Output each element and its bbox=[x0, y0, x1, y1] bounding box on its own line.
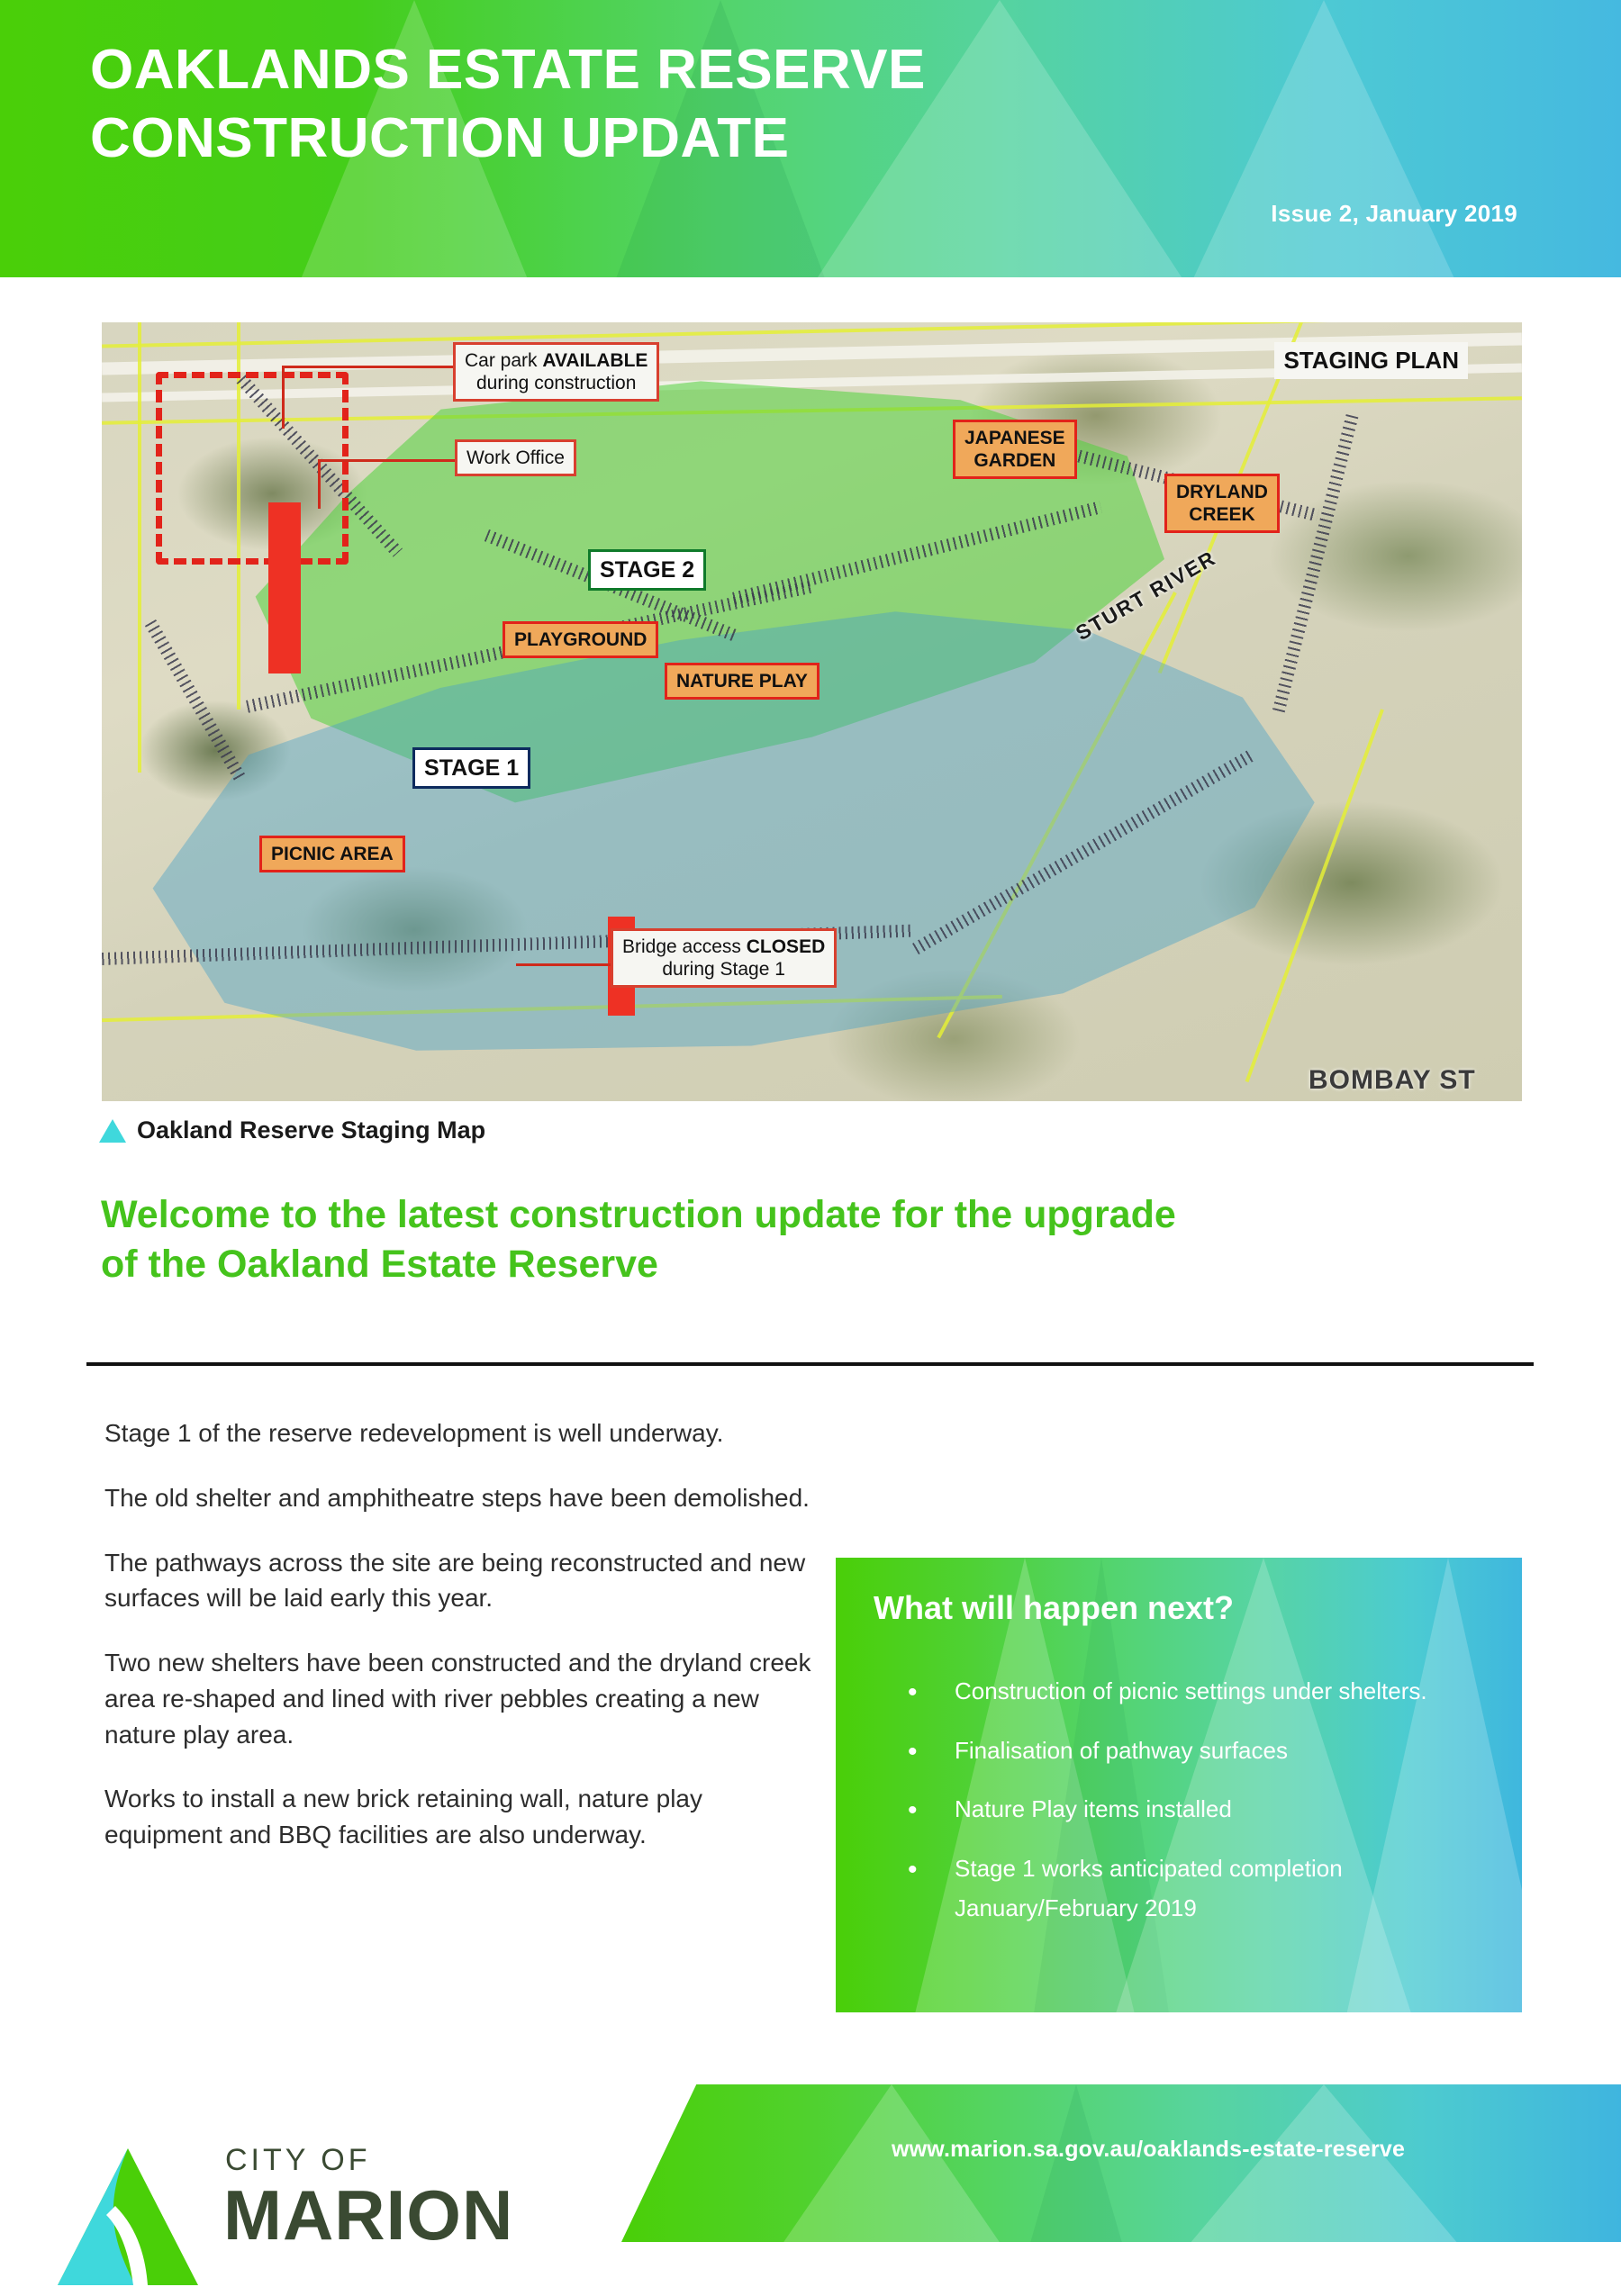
map-note-line: Car park bbox=[465, 350, 542, 371]
map-label-line: CREEK bbox=[1189, 504, 1255, 525]
header-triangle-decoration bbox=[1189, 0, 1459, 277]
footer-triangle-decoration-dark bbox=[1027, 2084, 1126, 2242]
map-label-line: JAPANESE bbox=[964, 428, 1065, 448]
map-caption-text: Oakland Reserve Staging Map bbox=[137, 1116, 485, 1144]
map-label-nature-play: NATURE PLAY bbox=[665, 663, 820, 700]
map-note-carpark-available: Car park AVAILABLE during construction bbox=[453, 342, 659, 402]
map-caption: Oakland Reserve Staging Map bbox=[99, 1116, 485, 1144]
map-label-line: DRYLAND bbox=[1176, 482, 1268, 502]
map-boundary-line bbox=[138, 322, 141, 773]
horizontal-divider bbox=[86, 1362, 1534, 1366]
panel-list-item: Stage 1 works anticipated completion bbox=[890, 1852, 1486, 1886]
body-paragraph: The old shelter and amphitheatre steps h… bbox=[104, 1480, 816, 1516]
panel-list-item: Nature Play items installed bbox=[890, 1793, 1486, 1827]
map-label-staging-plan: STAGING PLAN bbox=[1274, 342, 1468, 379]
logo-triangle-svg bbox=[56, 2143, 200, 2291]
map-note-work-office: Work Office bbox=[455, 439, 576, 476]
map-note-line: Bridge access bbox=[622, 936, 747, 957]
welcome-heading-line-2: of the Oakland Estate Reserve bbox=[101, 1240, 1533, 1289]
map-note-bridge-closed: Bridge access CLOSED during Stage 1 bbox=[611, 928, 837, 988]
welcome-heading: Welcome to the latest construction updat… bbox=[101, 1190, 1533, 1289]
map-label-playground: PLAYGROUND bbox=[503, 621, 658, 658]
map-label-stage-2: STAGE 2 bbox=[588, 549, 706, 591]
page-title: OAKLANDS ESTATE RESERVE CONSTRUCTION UPD… bbox=[90, 36, 1207, 172]
map-label-dryland-creek: DRYLAND CREEK bbox=[1164, 474, 1280, 533]
page-title-line-1: OAKLANDS ESTATE RESERVE bbox=[90, 36, 1207, 104]
footer-url-banner: www.marion.sa.gov.au/oaklands-estate-res… bbox=[621, 2084, 1621, 2242]
panel-list-item: Finalisation of pathway surfaces bbox=[890, 1734, 1486, 1768]
map-label-line: GARDEN bbox=[974, 450, 1055, 471]
what-happens-next-panel: What will happen next? Construction of p… bbox=[836, 1558, 1522, 2012]
panel-list-item: Construction of picnic settings under sh… bbox=[890, 1675, 1486, 1709]
footer-triangle-decoration bbox=[774, 2084, 1009, 2242]
map-note-emphasis: AVAILABLE bbox=[542, 350, 647, 371]
body-paragraph: The pathways across the site are being r… bbox=[104, 1545, 816, 1617]
panel-title: What will happen next? bbox=[874, 1589, 1234, 1627]
footer-website-link[interactable]: www.marion.sa.gov.au/oaklands-estate-res… bbox=[892, 2137, 1405, 2163]
map-note-line: during construction bbox=[476, 373, 636, 393]
map-label-japanese-garden: JAPANESE GARDEN bbox=[953, 420, 1077, 479]
map-leader-line bbox=[282, 366, 453, 368]
city-of-marion-logo-icon bbox=[56, 2143, 200, 2291]
page-header: OAKLANDS ESTATE RESERVE CONSTRUCTION UPD… bbox=[0, 0, 1621, 277]
map-leader-line bbox=[318, 459, 455, 462]
map-label-bombay-st: BOMBAY ST bbox=[1309, 1065, 1476, 1096]
map-label-stage-1: STAGE 1 bbox=[412, 747, 530, 789]
triangle-up-icon bbox=[99, 1119, 126, 1143]
map-leader-line bbox=[516, 963, 613, 966]
map-label-picnic-area: PICNIC AREA bbox=[259, 836, 405, 872]
body-paragraph: Works to install a new brick retaining w… bbox=[104, 1781, 816, 1853]
body-text-column: Stage 1 of the reserve redevelopment is … bbox=[104, 1415, 816, 1882]
issue-label: Issue 2, January 2019 bbox=[1271, 200, 1517, 228]
body-paragraph: Two new shelters have been constructed a… bbox=[104, 1645, 816, 1752]
page-title-line-2: CONSTRUCTION UPDATE bbox=[90, 104, 1207, 173]
staging-map-image: STAGING PLAN JAPANESE GARDEN DRYLAND CRE… bbox=[102, 322, 1522, 1101]
map-note-emphasis: CLOSED bbox=[747, 936, 826, 957]
map-note-line: during Stage 1 bbox=[662, 959, 785, 980]
body-paragraph: Stage 1 of the reserve redevelopment is … bbox=[104, 1415, 816, 1451]
map-leader-line bbox=[282, 366, 285, 429]
welcome-heading-line-1: Welcome to the latest construction updat… bbox=[101, 1190, 1533, 1240]
logo-text-city-of: CITY OF bbox=[225, 2143, 371, 2178]
map-leader-line bbox=[318, 459, 321, 509]
panel-list-item-continuation: January/February 2019 bbox=[890, 1892, 1486, 1926]
logo-text-marion: MARION bbox=[223, 2174, 513, 2256]
map-closure-marker bbox=[268, 502, 301, 673]
panel-bullet-list: Construction of picnic settings under sh… bbox=[890, 1675, 1486, 1950]
footer-triangle-decoration bbox=[1180, 2084, 1468, 2242]
